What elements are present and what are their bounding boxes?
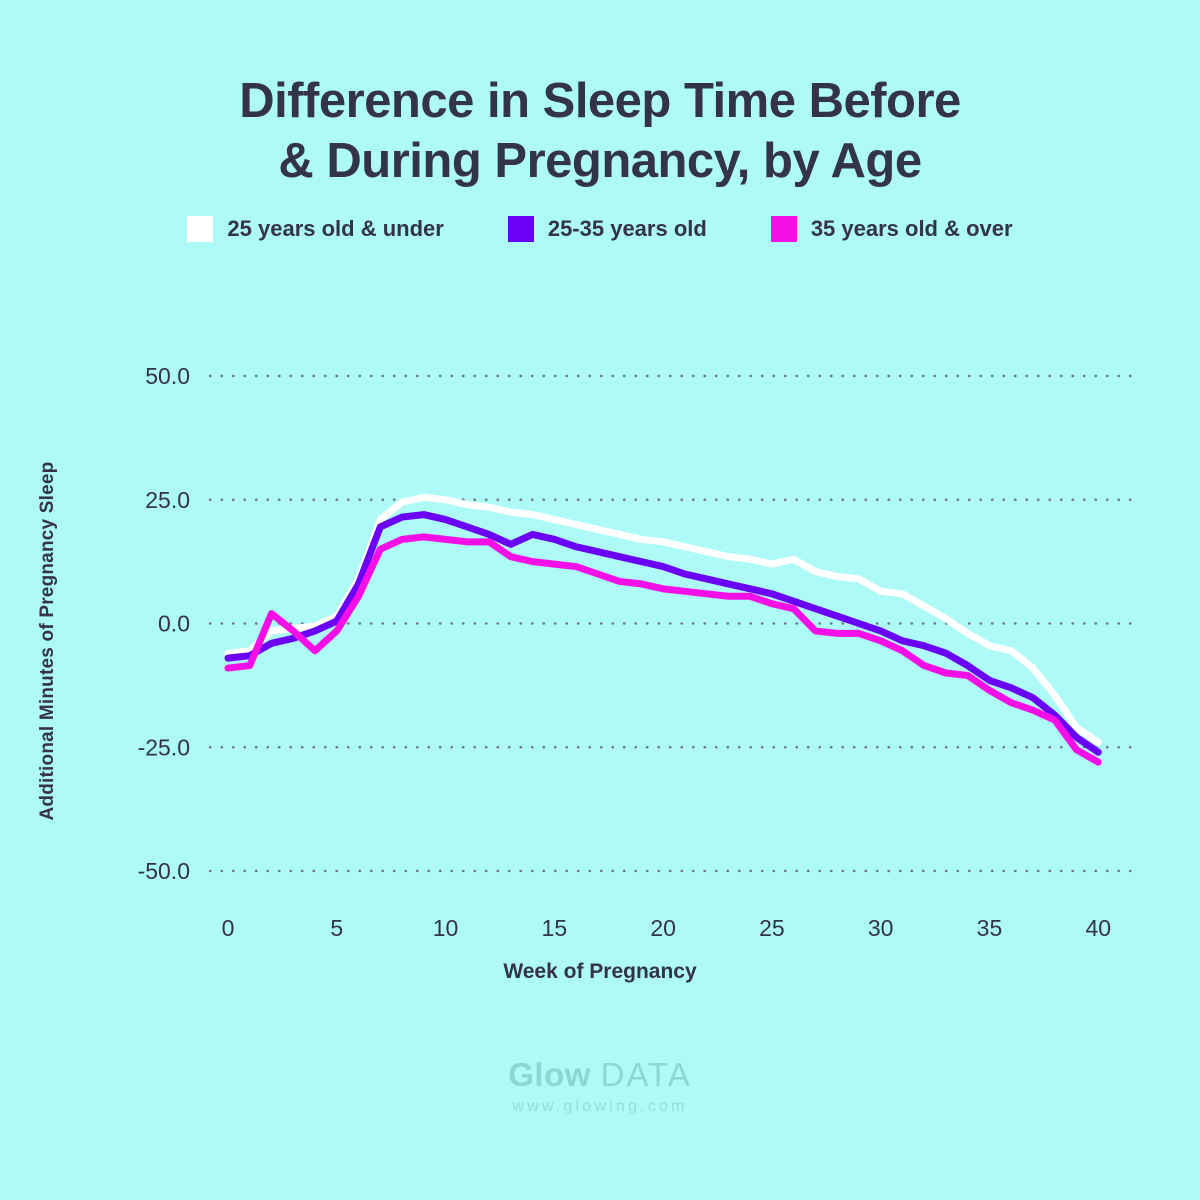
y-tick-label: 50.0 [145, 363, 190, 389]
legend-swatch-icon-under-25 [187, 216, 213, 242]
series-lines [228, 497, 1098, 762]
legend-item-25-35[interactable]: 25-35 years old [508, 216, 707, 242]
legend-label-under-25: 25 years old & under [227, 216, 443, 242]
line-chart-svg: 50.025.00.0-25.0-50.0 0510152025303540 [0, 330, 1200, 1030]
legend-swatch-icon-25-35 [508, 216, 534, 242]
y-tick-label: -50.0 [138, 858, 190, 884]
chart-legend: 25 years old & under 25-35 years old 35 … [0, 216, 1200, 242]
x-tick-labels: 0510152025303540 [222, 915, 1111, 941]
y-tick-label: 0.0 [158, 611, 190, 637]
x-tick-label: 0 [222, 915, 235, 941]
legend-item-under-25[interactable]: 25 years old & under [187, 216, 443, 242]
footer-branding: Glow DATA www.glowing.com [0, 1058, 1200, 1116]
infographic-root: Difference in Sleep Time Before & During… [0, 0, 1200, 1200]
brand-logo-secondary: DATA [601, 1056, 692, 1093]
x-tick-label: 40 [1085, 915, 1111, 941]
y-tick-label: -25.0 [138, 734, 190, 760]
title-line-2: & During Pregnancy, by Age [150, 132, 1050, 192]
x-tick-label: 20 [650, 915, 676, 941]
y-tick-label: 25.0 [145, 487, 190, 513]
plot-area: Additional Minutes of Pregnancy Sleep We… [0, 330, 1200, 1030]
x-tick-label: 30 [868, 915, 894, 941]
x-tick-label: 5 [330, 915, 343, 941]
title-line-1: Difference in Sleep Time Before [150, 72, 1050, 132]
x-tick-label: 10 [433, 915, 459, 941]
x-tick-label: 15 [542, 915, 568, 941]
legend-label-over-35: 35 years old & over [811, 216, 1013, 242]
gridlines [210, 376, 1136, 871]
page-title: Difference in Sleep Time Before & During… [150, 72, 1050, 192]
brand-logo: Glow DATA [0, 1058, 1200, 1091]
brand-url: www.glowing.com [0, 1098, 1200, 1116]
legend-item-over-35[interactable]: 35 years old & over [771, 216, 1013, 242]
title-block: Difference in Sleep Time Before & During… [0, 0, 1200, 242]
brand-logo-primary: Glow [508, 1056, 591, 1093]
series-line [228, 497, 1098, 742]
x-tick-label: 25 [759, 915, 785, 941]
legend-label-25-35: 25-35 years old [548, 216, 707, 242]
x-tick-label: 35 [977, 915, 1003, 941]
y-tick-labels: 50.025.00.0-25.0-50.0 [138, 363, 190, 884]
legend-swatch-icon-over-35 [771, 216, 797, 242]
